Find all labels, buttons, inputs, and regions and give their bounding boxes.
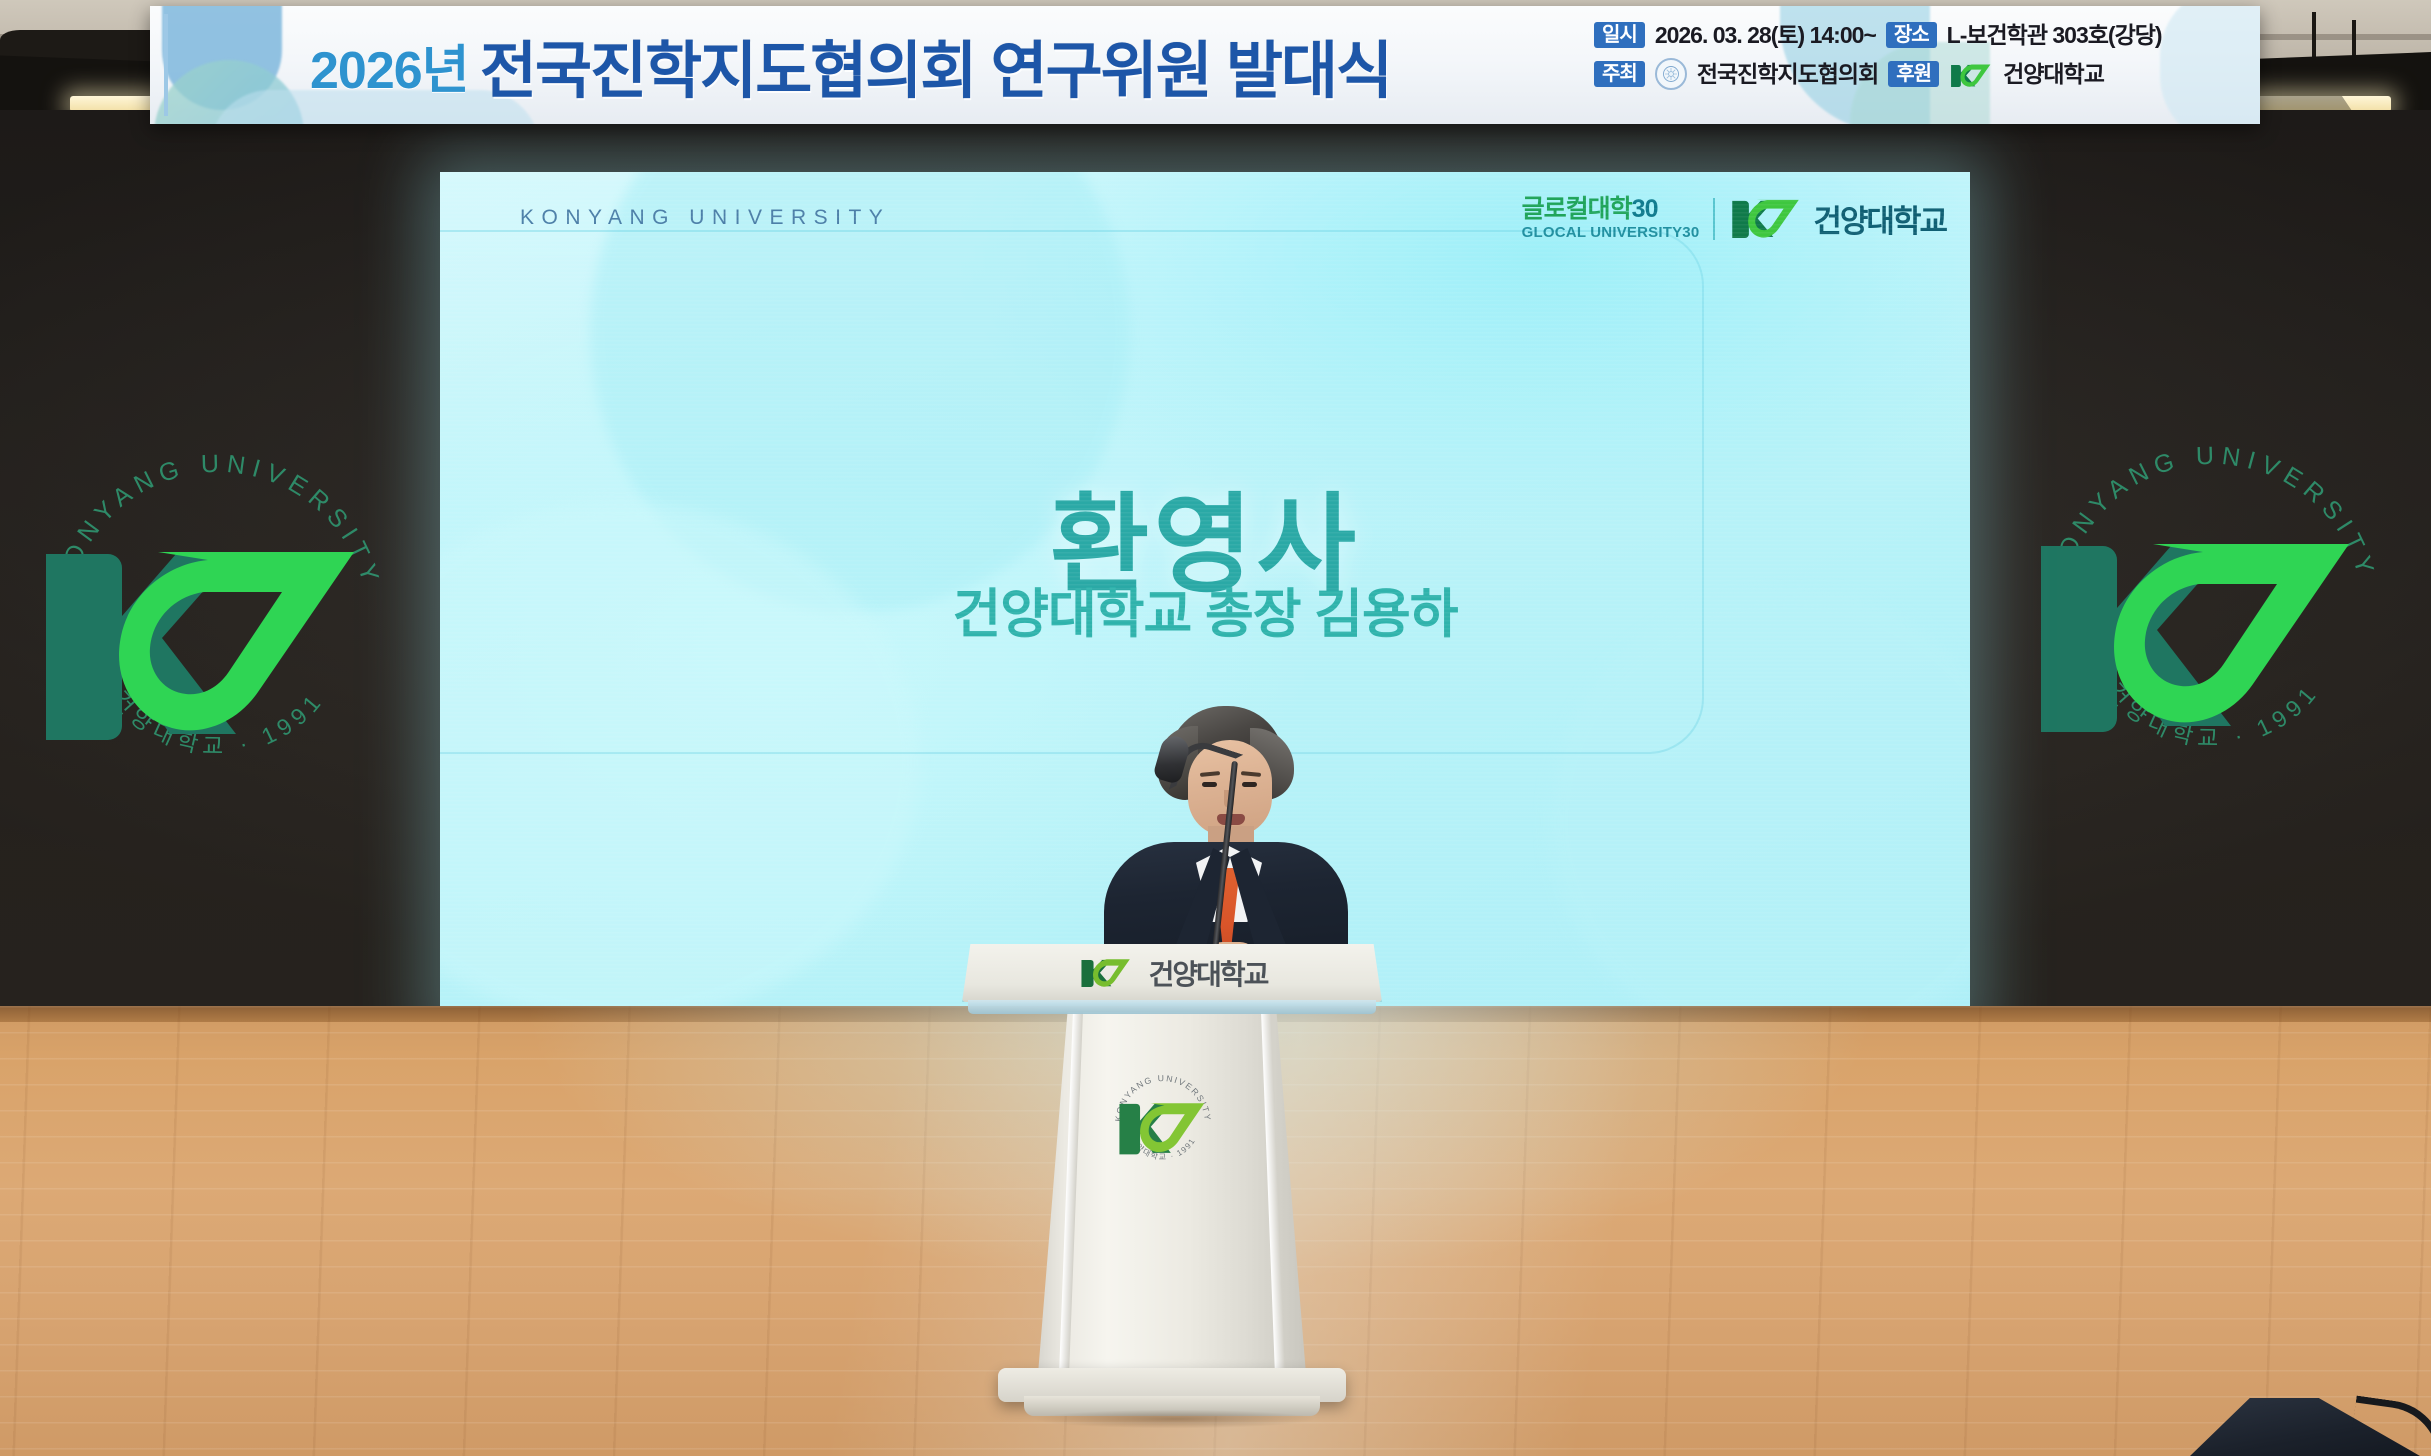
banner-value-host: 전국진학지도협의회 [1697, 63, 1878, 86]
wall-konyang-emblem-right: KONYANG UNIVERSITY 건양대학교 · 1991 [2003, 404, 2423, 824]
banner-info-block: 일시 2026. 03. 28(토) 14:00~ 장소 L-보건학관 303호… [1594, 22, 2234, 90]
podium-front-panel: 건양대학교 [962, 944, 1382, 1002]
konyang-logo-lockup: 건양대학교 [1729, 194, 1946, 243]
banner-year: 2026년 [310, 28, 469, 103]
banner-value-date: 2026. 03. 28(토) 14:00~ [1655, 24, 1876, 47]
brand-divider [1713, 198, 1715, 240]
banner-info-row: 주최 전국진학지도협의회 후원 건양대학교 [1594, 58, 2234, 90]
slide-brand-lockup: 글로컬대학30 GLOCAL UNIVERSITY30 건양대학교 [1522, 194, 1946, 243]
banner-value-venue: L-보건학관 303호(강당) [1947, 24, 2162, 47]
banner-title: 전국진학지도협의회 연구위원 발대식 [480, 20, 1391, 110]
sponsor-ky-mark-icon [1949, 61, 1993, 87]
wall-konyang-emblem-left: KONYANG UNIVERSITY 건양대학교 · 1991 [8, 412, 428, 832]
slide-header-university: KONYANG UNIVERSITY [520, 206, 890, 230]
konyang-label-kr: 건양대학교 [1813, 196, 1946, 241]
banner-info-row: 일시 2026. 03. 28(토) 14:00~ 장소 L-보건학관 303호… [1594, 22, 2234, 48]
podium-ky-mark-icon [1077, 955, 1135, 992]
banner-tag-date: 일시 [1594, 22, 1645, 48]
banner-tag-venue: 장소 [1886, 22, 1937, 48]
host-organization-icon [1655, 58, 1687, 90]
glocal-label-kr: 글로컬대학 [1522, 195, 1632, 223]
speaker-eye [1242, 782, 1257, 787]
podium-konyang-emblem: KONYANG UNIVERSITY 건양대학교 · 1991 [1102, 1062, 1224, 1184]
banner-tag-host: 주최 [1594, 61, 1645, 87]
event-banner: 2026년 전국진학지도협의회 연구위원 발대식 일시 2026. 03. 28… [150, 6, 2260, 124]
slide-subtitle: 건양대학교 총장 김용하 [440, 572, 1970, 648]
glocal-university-logo: 글로컬대학30 GLOCAL UNIVERSITY30 [1522, 197, 1700, 240]
podium-university-label: 건양대학교 [1149, 953, 1268, 993]
glocal-label-num: 30 [1632, 195, 1658, 223]
podium-floor-shadow [980, 1406, 1370, 1432]
lectern-podium: KONYANG UNIVERSITY 건양대학교 · 1991 건양대학교 [962, 944, 1382, 1434]
banner-value-sponsor: 건양대학교 [2003, 63, 2104, 86]
glocal-label-en: GLOCAL UNIVERSITY30 [1522, 225, 1700, 240]
banner-tag-sponsor: 후원 [1888, 61, 1939, 87]
podium-glass-lip [968, 1000, 1376, 1014]
ky-mark-icon [1729, 194, 1803, 243]
auditorium-scene: KONYANG UNIVERSITY 건양대학교 · 1991 KONYANG … [0, 0, 2431, 1456]
